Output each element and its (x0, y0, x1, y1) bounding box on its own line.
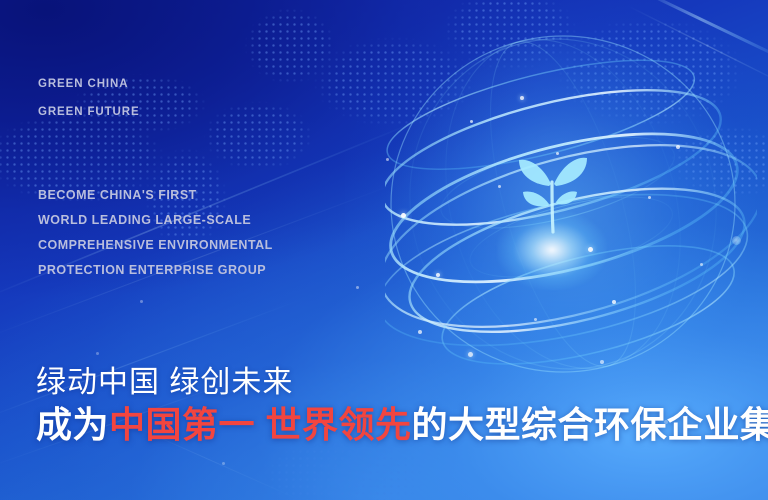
eyebrow-text-block: GREEN CHINA GREEN FUTURE (38, 70, 140, 126)
slogan-line-3: COMPREHENSIVE ENVIRONMENTAL (38, 233, 273, 258)
eyebrow-line-2: GREEN FUTURE (38, 98, 140, 126)
text-layer: GREEN CHINA GREEN FUTURE BECOME CHINA'S … (0, 0, 768, 500)
headline-block: 绿动中国 绿创未来 成为中国第一 世界领先的大型综合环保企业集团 (36, 364, 768, 448)
eyebrow-line-1: GREEN CHINA (38, 70, 140, 98)
slogan-line-2: WORLD LEADING LARGE-SCALE (38, 208, 273, 233)
headline-line-1: 绿动中国 绿创未来 (36, 364, 768, 402)
headline-highlight: 中国第一 世界领先 (109, 404, 412, 445)
slogan-line-4: PROTECTION ENTERPRISE GROUP (38, 258, 273, 283)
slogan-text-block: BECOME CHINA'S FIRST WORLD LEADING LARGE… (38, 183, 273, 283)
green-china-banner: GREEN CHINA GREEN FUTURE BECOME CHINA'S … (0, 0, 768, 500)
headline-suffix: 的大型综合环保企业集团 (412, 404, 768, 445)
headline-line-2: 成为中国第一 世界领先的大型综合环保企业集团 (36, 402, 768, 448)
slogan-line-1: BECOME CHINA'S FIRST (38, 183, 273, 208)
headline-prefix: 成为 (36, 404, 109, 445)
